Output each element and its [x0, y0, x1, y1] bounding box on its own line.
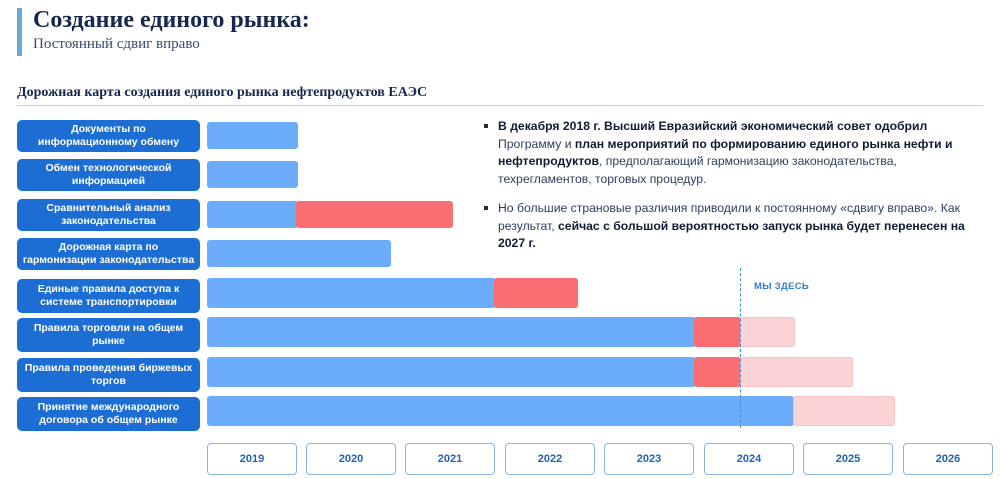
year-axis-box-2024[interactable]: 2024	[704, 443, 794, 475]
gantt-bar-segment-blue	[207, 161, 298, 188]
gantt-bar-segment-red	[694, 357, 741, 387]
gantt-bar-segment-red	[494, 278, 578, 308]
note-text-bold: сейчас с большой вероятностью запуск рын…	[498, 219, 965, 251]
roadmap-row-label: Обмен технологической информацией	[17, 159, 200, 191]
gantt-bar-segment-blue	[207, 317, 696, 347]
year-axis-box-2022[interactable]: 2022	[505, 443, 595, 475]
bullet-icon	[484, 124, 488, 128]
year-axis-box-2019[interactable]: 2019	[207, 443, 297, 475]
note-text-bold: В декабря 2018 г. Высший Евразийский эко…	[498, 119, 927, 133]
roadmap-row-label: Единые правила доступа к системе транспо…	[17, 279, 200, 313]
now-marker-line	[740, 268, 741, 428]
roadmap-row-label: Сравнительный анализ законодательства	[17, 199, 200, 231]
roadmap-row-label: Правила торговли на общем рынке	[17, 318, 200, 352]
roadmap-row-label: Документы по информационному обмену	[17, 120, 200, 152]
note-text: Программу и	[498, 137, 575, 151]
note-item: Но большие страновые различия приводили …	[484, 200, 984, 253]
year-axis-box-2020[interactable]: 2020	[306, 443, 396, 475]
gantt-bar-segment-pink	[740, 317, 795, 347]
gantt-bar-segment-blue	[207, 357, 696, 387]
gantt-bar-segment-blue	[207, 278, 496, 308]
roadmap-row-label: Правила проведения биржевых торгов	[17, 358, 200, 392]
roadmap-row-label: Дорожная карта по гармонизации законодат…	[17, 238, 200, 270]
notes-list: В декабря 2018 г. Высший Евразийский эко…	[484, 118, 984, 265]
gantt-bar-segment-pink	[740, 357, 853, 387]
gantt-bar-segment-red	[694, 317, 741, 347]
roadmap-row-label: Принятие международного договора об обще…	[17, 397, 200, 431]
bullet-icon	[484, 206, 488, 210]
gantt-bar-segment-red	[296, 201, 453, 228]
note-item: В декабря 2018 г. Высший Евразийский эко…	[484, 118, 984, 188]
year-axis-box-2025[interactable]: 2025	[803, 443, 893, 475]
year-axis-box-2023[interactable]: 2023	[604, 443, 694, 475]
now-marker-label: МЫ ЗДЕСЬ	[754, 281, 809, 292]
gantt-bar-segment-blue	[207, 201, 298, 228]
gantt-bar-segment-blue	[207, 240, 391, 267]
gantt-bar-segment-blue	[207, 396, 794, 426]
gantt-bar-segment-blue	[207, 122, 298, 149]
gantt-bar-segment-pink	[793, 396, 895, 426]
year-axis-box-2021[interactable]: 2021	[405, 443, 495, 475]
year-axis-box-2026[interactable]: 2026	[903, 443, 993, 475]
